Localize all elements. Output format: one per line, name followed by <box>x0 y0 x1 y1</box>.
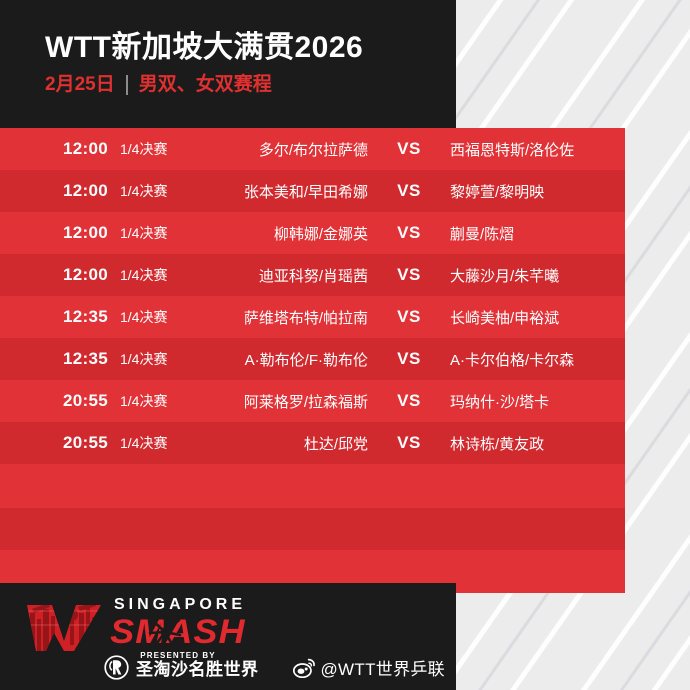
match-time: 12:35 <box>0 349 108 369</box>
away-team: 长崎美柚/申裕斌 <box>450 307 625 328</box>
away-team: 西福恩特斯/洛伦佐 <box>450 139 625 160</box>
table-row[interactable]: 12:00 1/4决赛 多尔/布尔拉萨德 VS 西福恩特斯/洛伦佐 <box>0 128 625 170</box>
event-date: 2月25日 <box>45 74 115 97</box>
smash-skyline-w-icon <box>26 599 102 653</box>
home-team: 张本美和/早田希娜 <box>200 181 368 202</box>
vs-label: VS <box>368 139 450 159</box>
page-title: WTT新加坡大满贯2026 <box>45 31 456 65</box>
match-round: 1/4决赛 <box>108 349 200 369</box>
resorts-world-sentosa-logo: 圣淘沙名胜世界 <box>104 655 259 680</box>
sponsor-name: 圣淘沙名胜世界 <box>136 655 259 680</box>
match-round: 1/4决赛 <box>108 307 200 327</box>
event-categories: 男双、女双赛程 <box>139 74 272 97</box>
match-time: 12:35 <box>0 307 108 327</box>
table-row[interactable]: 12:00 1/4决赛 迪亚科努/肖瑶茜 VS 大藤沙月/朱芊曦 <box>0 254 625 296</box>
vs-label: VS <box>368 433 450 453</box>
match-time: 20:55 <box>0 391 108 411</box>
smash-wordmark: SINGAPORE SMASH <box>110 595 246 660</box>
match-time: 12:00 <box>0 139 108 159</box>
away-team: 林诗栋/黄友政 <box>450 433 625 454</box>
schedule-panel: 12:00 1/4决赛 多尔/布尔拉萨德 VS 西福恩特斯/洛伦佐 12:00 … <box>0 128 625 583</box>
match-round: 1/4决赛 <box>108 139 200 159</box>
away-team: 玛纳什·沙/塔卡 <box>450 391 625 412</box>
home-team: 多尔/布尔拉萨德 <box>200 139 368 160</box>
table-row[interactable]: 12:35 1/4决赛 A·勒布伦/F·勒布伦 VS A·卡尔伯格/卡尔森 <box>0 338 625 380</box>
home-team: 萨维塔布特/帕拉南 <box>200 307 368 328</box>
away-team: 大藤沙月/朱芊曦 <box>450 265 625 286</box>
away-team: 蒯曼/陈熠 <box>450 223 625 244</box>
subtitle-divider <box>126 75 128 95</box>
rws-circle-icon <box>104 655 129 680</box>
singapore-smash-logo: SINGAPORE SMASH <box>26 595 246 660</box>
table-row[interactable]: 12:00 1/4决赛 张本美和/早田希娜 VS 黎婷萱/黎明映 <box>0 170 625 212</box>
match-time: 12:00 <box>0 265 108 285</box>
match-round: 1/4决赛 <box>108 181 200 201</box>
vs-label: VS <box>368 349 450 369</box>
home-team: 迪亚科努/肖瑶茜 <box>200 265 368 286</box>
match-time: 20:55 <box>0 433 108 453</box>
match-time: 12:00 <box>0 181 108 201</box>
vs-label: VS <box>368 223 450 243</box>
footer-banner: SINGAPORE SMASH <box>0 583 456 690</box>
table-row[interactable]: 12:00 1/4决赛 柳韩娜/金娜英 VS 蒯曼/陈熠 <box>0 212 625 254</box>
poster-root: WTT新加坡大满贯2026 2月25日 男双、女双赛程 12:00 1/4决赛 … <box>0 0 690 690</box>
logo-singapore-text: SINGAPORE <box>110 597 246 613</box>
weibo-handle: @WTT世界乒联 <box>321 655 445 680</box>
empty-row <box>0 508 625 550</box>
sponsor-row: 圣淘沙名胜世界 @WTT世界乒联 <box>104 655 445 680</box>
home-team: 柳韩娜/金娜英 <box>200 223 368 244</box>
match-round: 1/4决赛 <box>108 265 200 285</box>
empty-row <box>0 464 625 508</box>
header-subtitle: 2月25日 男双、女双赛程 <box>45 74 456 97</box>
match-round: 1/4决赛 <box>108 433 200 453</box>
table-row[interactable]: 20:55 1/4决赛 杜达/邱党 VS 林诗栋/黄友政 <box>0 422 625 464</box>
logo-smash-text: SMASH <box>110 614 245 650</box>
logo-smash-wrap: SMASH <box>114 614 242 650</box>
weibo-icon <box>293 658 316 678</box>
match-round: 1/4决赛 <box>108 391 200 411</box>
match-time: 12:00 <box>0 223 108 243</box>
home-team: 杜达/邱党 <box>200 433 368 454</box>
home-team: A·勒布伦/F·勒布伦 <box>200 349 368 370</box>
header-banner: WTT新加坡大满贯2026 2月25日 男双、女双赛程 <box>0 0 456 128</box>
vs-label: VS <box>368 391 450 411</box>
match-round: 1/4决赛 <box>108 223 200 243</box>
vs-label: VS <box>368 307 450 327</box>
weibo-account[interactable]: @WTT世界乒联 <box>293 655 445 680</box>
table-row[interactable]: 20:55 1/4决赛 阿莱格罗/拉森福斯 VS 玛纳什·沙/塔卡 <box>0 380 625 422</box>
away-team: A·卡尔伯格/卡尔森 <box>450 349 625 370</box>
table-row[interactable]: 12:35 1/4决赛 萨维塔布特/帕拉南 VS 长崎美柚/申裕斌 <box>0 296 625 338</box>
away-team: 黎婷萱/黎明映 <box>450 181 625 202</box>
vs-label: VS <box>368 181 450 201</box>
vs-label: VS <box>368 265 450 285</box>
home-team: 阿莱格罗/拉森福斯 <box>200 391 368 412</box>
